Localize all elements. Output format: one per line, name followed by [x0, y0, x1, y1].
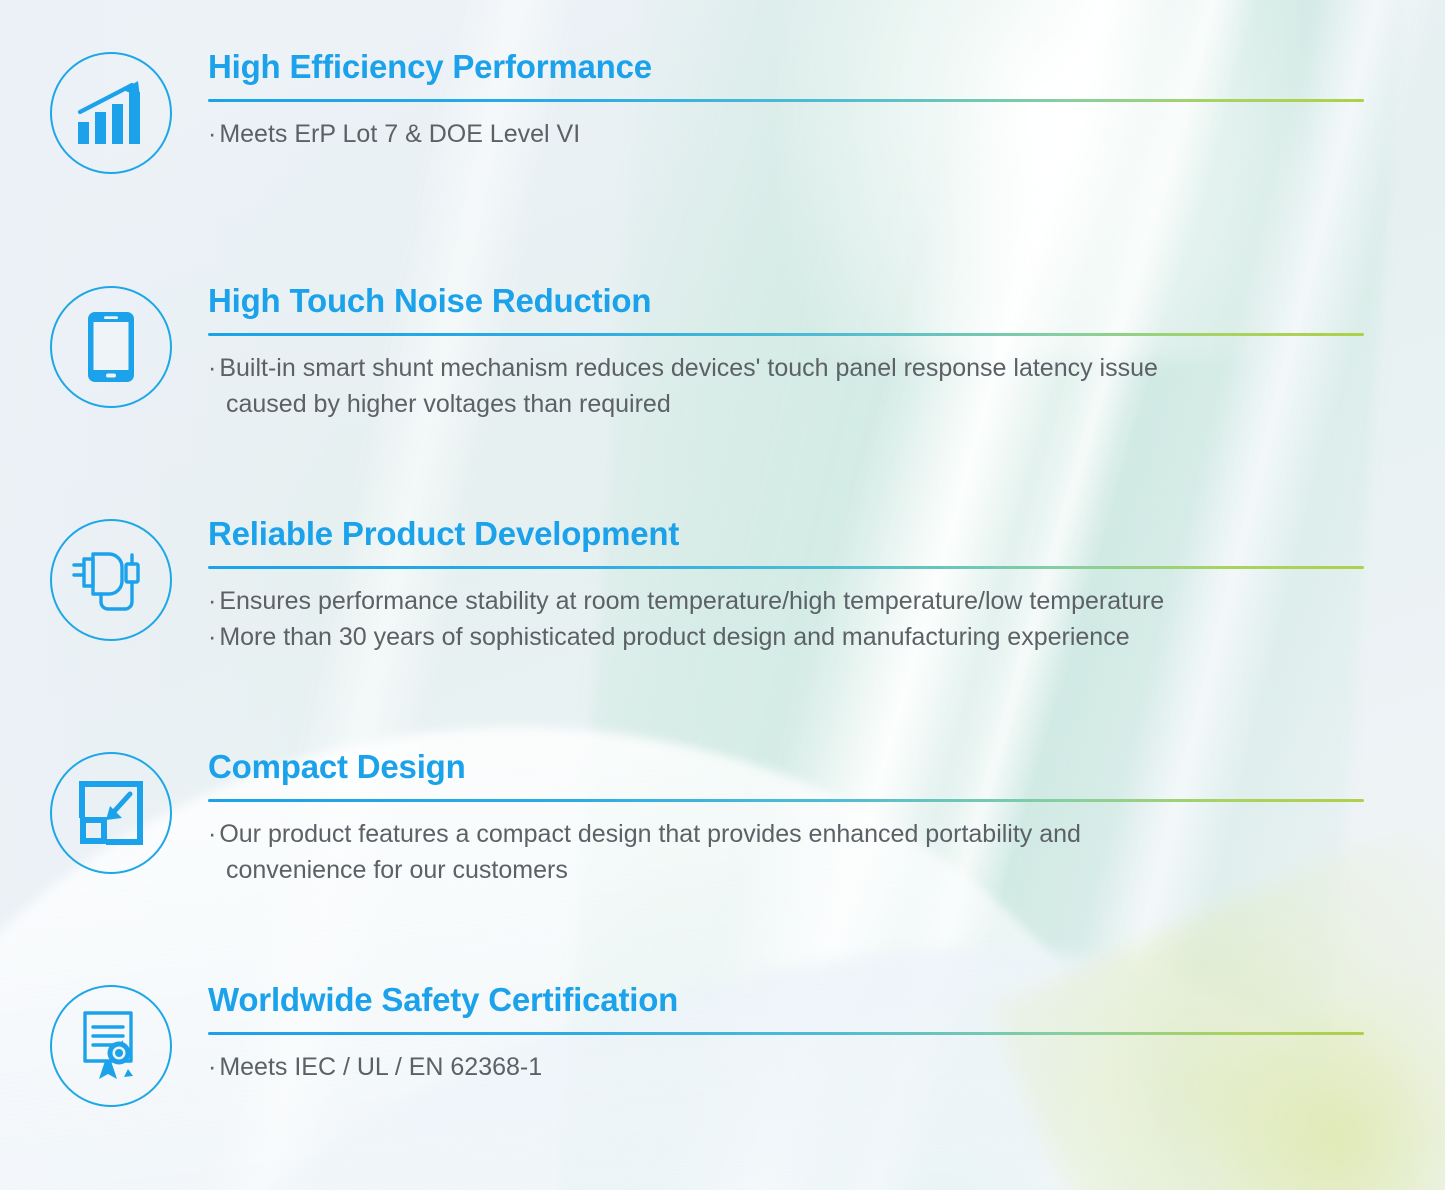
bullet-text: Our product features a compact design th…: [219, 820, 1081, 848]
feature-body: Compact Design ·Our product features a c…: [172, 748, 1380, 889]
bullet-text: Meets ErP Lot 7 & DOE Level VI: [219, 120, 580, 148]
bullet-item: ·Ensures performance stability at room t…: [208, 583, 1380, 620]
bullet-dot: ·: [208, 623, 216, 651]
feature-divider: [208, 1032, 1364, 1035]
bullet-item: ·Meets IEC / UL / EN 62368-1: [208, 1049, 1380, 1086]
feature-divider: [208, 566, 1364, 569]
bullet-dot: ·: [208, 587, 216, 615]
feature-list: High Efficiency Performance ·Meets ErP L…: [0, 0, 1445, 1190]
feature-divider: [208, 799, 1364, 802]
feature-body: Worldwide Safety Certification ·Meets IE…: [172, 981, 1380, 1085]
feature-bullets: ·Built-in smart shunt mechanism reduces …: [208, 350, 1380, 423]
bullet-item: ·More than 30 years of sophisticated pro…: [208, 619, 1380, 656]
feature-item-compact-design: Compact Design ·Our product features a c…: [50, 748, 1380, 889]
feature-item-high-touch-noise-reduction: High Touch Noise Reduction ·Built-in sma…: [50, 282, 1380, 423]
bullet-dot: ·: [208, 120, 216, 148]
bullet-text: Built-in smart shunt mechanism reduces d…: [219, 354, 1158, 382]
bullet-text: Ensures performance stability at room te…: [219, 587, 1164, 615]
feature-title: Reliable Product Development: [208, 517, 1380, 552]
bullet-item: ·Meets ErP Lot 7 & DOE Level VI: [208, 116, 1380, 153]
feature-bullets: ·Meets IEC / UL / EN 62368-1: [208, 1049, 1380, 1086]
bullet-item: ·Built-in smart shunt mechanism reduces …: [208, 350, 1380, 387]
feature-body: High Touch Noise Reduction ·Built-in sma…: [172, 282, 1380, 423]
feature-title: Compact Design: [208, 750, 1380, 785]
feature-title: High Efficiency Performance: [208, 50, 1380, 85]
compact-resize-icon: [50, 752, 172, 874]
bullet-dot: ·: [208, 1053, 216, 1081]
bullet-dot: ·: [208, 820, 216, 848]
feature-item-reliable-product-development: Reliable Product Development ·Ensures pe…: [50, 515, 1380, 656]
feature-item-worldwide-safety-certification: Worldwide Safety Certification ·Meets IE…: [50, 981, 1380, 1107]
feature-item-high-efficiency-performance: High Efficiency Performance ·Meets ErP L…: [50, 48, 1380, 174]
feature-bullets: ·Our product features a compact design t…: [208, 816, 1380, 889]
bullet-dot: ·: [208, 354, 216, 382]
bullet-text-continuation: convenience for our customers: [208, 852, 1380, 889]
feature-bullets: ·Meets ErP Lot 7 & DOE Level VI: [208, 116, 1380, 153]
feature-divider: [208, 333, 1364, 336]
feature-title: Worldwide Safety Certification: [208, 983, 1380, 1018]
power-adapter-icon: [50, 519, 172, 641]
feature-body: High Efficiency Performance ·Meets ErP L…: [172, 48, 1380, 152]
bullet-item: ·Our product features a compact design t…: [208, 816, 1380, 853]
feature-title: High Touch Noise Reduction: [208, 284, 1380, 319]
bullet-text-continuation: caused by higher voltages than required: [208, 386, 1380, 423]
smartphone-icon: [50, 286, 172, 408]
certificate-award-icon: [50, 985, 172, 1107]
bullet-text: More than 30 years of sophisticated prod…: [219, 623, 1129, 651]
feature-highlights-page: High Efficiency Performance ·Meets ErP L…: [0, 0, 1445, 1190]
feature-bullets: ·Ensures performance stability at room t…: [208, 583, 1380, 656]
feature-divider: [208, 99, 1364, 102]
feature-body: Reliable Product Development ·Ensures pe…: [172, 515, 1380, 656]
bullet-text: Meets IEC / UL / EN 62368-1: [219, 1053, 542, 1081]
bar-chart-growth-icon: [50, 52, 172, 174]
